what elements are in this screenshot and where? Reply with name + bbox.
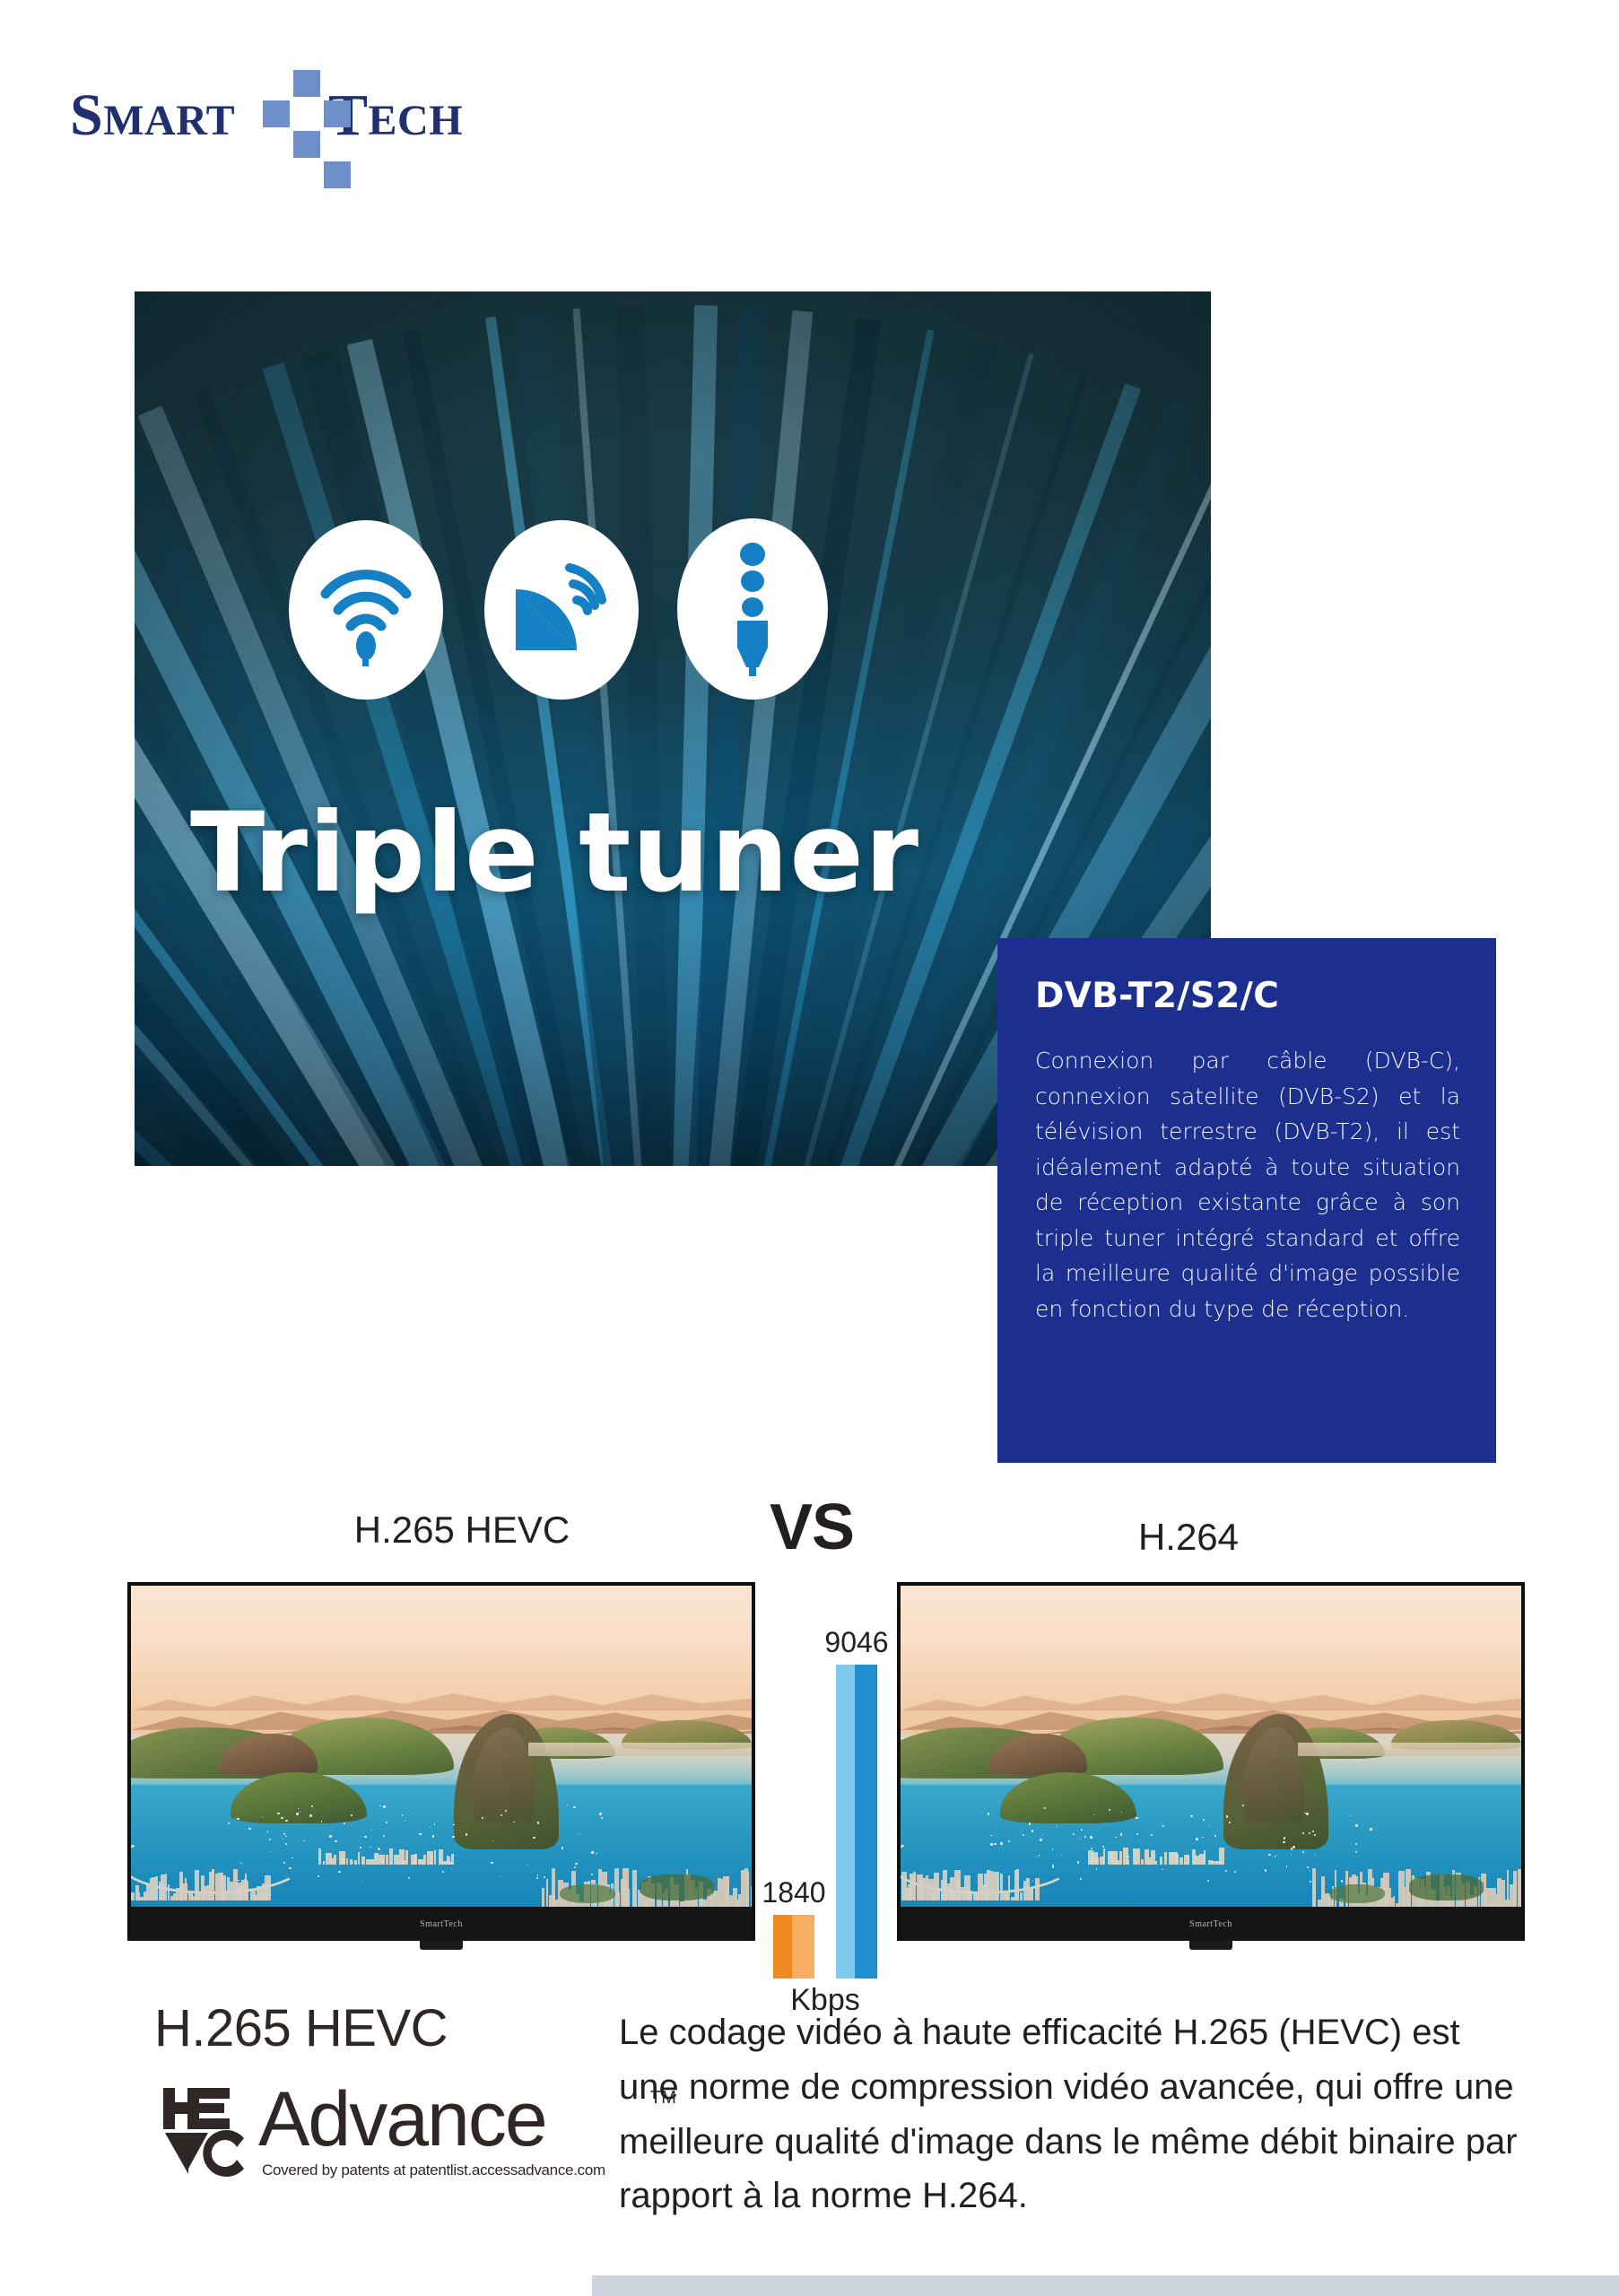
- hevc-advance-wordmark: Advance: [258, 2075, 546, 2164]
- hevc-description: Le codage vidéo à haute efficacité H.265…: [619, 2005, 1525, 2223]
- bar-hevc: [773, 1915, 814, 1979]
- comparison-label-h264: H.264: [1054, 1516, 1323, 1559]
- cable-connector-icon: [677, 518, 828, 700]
- dvb-info-body: Connexion par câble (DVB-C), connexion s…: [1035, 1043, 1460, 1326]
- tv-hevc: SmartTech: [127, 1582, 755, 1941]
- comparison-label-hevc: H.265 HEVC: [327, 1509, 596, 1552]
- tv-stand: [1189, 1941, 1232, 1950]
- bar-h264: [836, 1665, 877, 1979]
- antenna-terrestrial-icon: [289, 520, 443, 700]
- tv-brand-badge: SmartTech: [420, 1919, 463, 1929]
- logo-tech-rest: ECH: [369, 97, 464, 144]
- bar-value-label-h264: 9046: [805, 1626, 908, 1659]
- tv-h264-screen: [901, 1586, 1521, 1907]
- hevc-patent-note: Covered by patents at patentlist.accessa…: [262, 2161, 605, 2179]
- bar-value-label-hevc: 1840: [743, 1876, 845, 1909]
- tv-h264-bezel: SmartTech: [901, 1907, 1521, 1941]
- checkered-cross-icon: [263, 70, 361, 169]
- tv-hevc-bezel: SmartTech: [131, 1907, 752, 1941]
- hevc-heading: H.265 HEVC: [154, 1998, 567, 2058]
- footer-band: [592, 2275, 1619, 2296]
- dvb-info-title: DVB-T2/S2/C: [1035, 976, 1460, 1016]
- hevc-advance-logo: Advance TM Covered by patents at patentl…: [161, 2079, 574, 2187]
- hevc-mark-icon: [161, 2084, 260, 2179]
- logo-smart-cap: S: [70, 83, 103, 148]
- tv-stand: [420, 1941, 463, 1950]
- logo-text-smart: SMART: [70, 86, 235, 145]
- bitrate-bar-chart: 1840 9046 Kbps: [753, 1587, 897, 2018]
- logo-smart-rest: MART: [103, 97, 235, 144]
- brand-logo: SMART TECH: [70, 86, 492, 169]
- dvb-info-box: DVB-T2/S2/C Connexion par câble (DVB-C),…: [997, 938, 1496, 1463]
- hero-title: Triple tuner: [190, 789, 919, 917]
- tv-h264: SmartTech: [897, 1582, 1525, 1941]
- tv-hevc-screen: [131, 1586, 752, 1907]
- tv-brand-badge: SmartTech: [1189, 1919, 1232, 1929]
- comparison-vs-label: VS: [740, 1491, 883, 1564]
- satellite-dish-icon: [484, 520, 639, 700]
